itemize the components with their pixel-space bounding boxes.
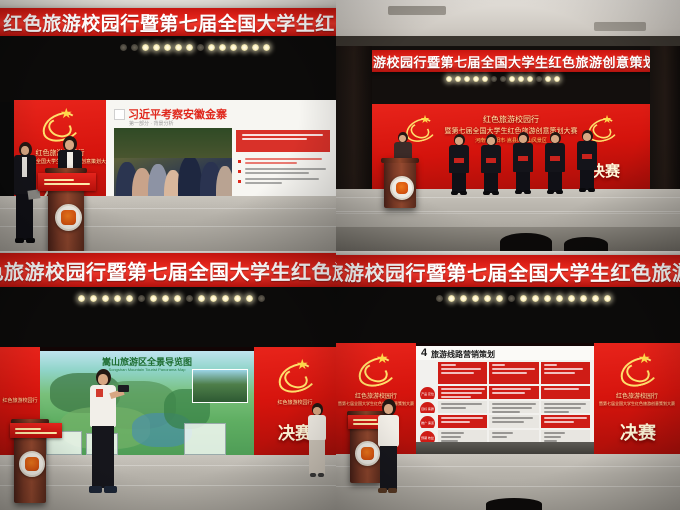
slide-bullet-list: 金寨是中国革命的重要策源地，人民军队的重要发源地 一寸山河一寸血，一腔热血铸丰碑… — [238, 156, 330, 188]
person-host — [12, 142, 38, 251]
led-backdrop-line2: 暨第七届全国大学生红色旅游创意策划大赛 — [372, 126, 650, 136]
stage-light-bar — [120, 44, 270, 51]
matrix-column-header: 方案一 红色研学线路 — [438, 362, 487, 384]
slide-bullet-item: 让老区人民同全国人民一道迈入全面小康社会 — [238, 178, 330, 184]
photo-collage: 选手在讲台演讲，大屏展示演示文稿 红色旅游校园行暨第七届全国大学生红 — [0, 0, 680, 510]
stage-light-bar — [446, 76, 560, 82]
person-contestant — [512, 132, 534, 196]
matrix-column-header: 方案三 亲子体验线路 — [541, 362, 590, 384]
person-contestant — [576, 130, 598, 194]
stage-lamp — [153, 44, 160, 51]
person-host — [306, 403, 328, 495]
stage-curtain-right — [650, 46, 680, 191]
event-banner: 红色旅游校园行暨第七届全国大学生红色旅游创意策划大赛 — [344, 50, 672, 72]
stage-lamp — [186, 44, 193, 51]
person-contestant — [448, 134, 470, 196]
audience-silhouette — [486, 498, 542, 510]
matrix-cell: 城市白领、自驾游客 — [489, 401, 538, 414]
stage-lamp — [142, 44, 149, 51]
podium-sign: 红色旅游校园行 暨第七届全国大学生红色旅游创意策划大赛 — [38, 173, 96, 191]
stage-lamp — [208, 44, 215, 51]
map-legend — [184, 423, 226, 455]
stage-lamp — [197, 44, 204, 51]
slide-bullet-square-icon — [114, 109, 125, 120]
photo-panel-bottom-left: 男选手手持平板讲解景区全景导览图 红色旅游校园行暨第七届全国大学生红色旅游 红色… — [0, 251, 336, 510]
slide-section-number: 4 — [421, 347, 427, 359]
ceiling-vent — [594, 22, 646, 31]
competition-logo-icon: ★ — [356, 351, 396, 385]
matrix-row-label: 预期 效益 — [420, 430, 436, 443]
matrix-corner — [420, 362, 436, 384]
ceiling-vent — [388, 6, 446, 15]
matrix-cell: 亲子家庭、青少年团体 — [541, 401, 590, 414]
led-side-panel-right: ★ 红色旅游校园行 暨第七届全国大学生红色旅游创意策划大赛 决赛 — [594, 343, 680, 459]
stage-lamp — [230, 44, 237, 51]
podium-sign: 红色旅游校园行 暨第七届全国大学生红色旅游创意策划大赛 — [10, 423, 62, 438]
podium-emblem-icon — [390, 176, 414, 200]
led-wall: 红色旅游校园行 ★ 红色旅游校园行 决赛 嵩山旅游区全景导览图 Songshan… — [0, 347, 336, 463]
event-banner: 色旅游校园行暨第七届全国大学生红色旅游创 — [336, 255, 680, 287]
led-side-line1: 红色旅游校园行 — [0, 397, 40, 404]
audience-silhouette — [500, 233, 552, 251]
matrix-row-label: 目标 客群 — [420, 401, 436, 414]
matrix-cell: 年接待量 6 万人次 — [489, 430, 538, 443]
matrix-cell: 面向亲子家庭的互动体验线路 — [541, 386, 590, 399]
photo-panel-top-left: 选手在讲台演讲，大屏展示演示文稿 红色旅游校园行暨第七届全国大学生红 — [0, 0, 336, 251]
podium-emblem-icon — [19, 451, 45, 477]
matrix-cell: 校园宣讲、新媒体矩阵、旅行社渠道 — [438, 415, 487, 428]
matrix-column-header: 方案二 生态休闲线路 — [489, 362, 538, 384]
person-contestant — [544, 132, 566, 196]
matrix-cell: 在校学生、研学团队、党政机关 — [438, 401, 487, 414]
stage-lamp — [219, 44, 226, 51]
person-contestant — [480, 134, 502, 196]
matrix-cell: 年接待量 10 万人次 — [438, 430, 487, 443]
led-side-line2: 暨第七届全国大学生红色旅游创意策划大赛 — [596, 401, 678, 407]
stage-lamp — [263, 44, 270, 51]
competition-logo-icon: ★ — [40, 106, 80, 140]
led-side-final: 决赛 — [620, 419, 656, 445]
person-presenter — [376, 399, 402, 499]
map-slide: 嵩山旅游区全景导览图 Songshan Mountain Tourist Pan… — [40, 351, 254, 459]
slide-bullet-item: 金寨是中国革命的重要策源地，人民军队的重要发源地 — [238, 158, 330, 164]
matrix-row-label: 推广 渠道 — [420, 415, 436, 428]
podium: 红色旅游校园行 暨第七届全国大学生红色旅游创意策划大赛 — [48, 168, 84, 251]
stage-light-bar — [436, 295, 611, 302]
strategy-matrix: 方案一 红色研学线路 方案二 生态休闲线路 方案三 亲子体验线路 产品 定位 — [420, 362, 590, 442]
podium-emblem-icon — [55, 204, 82, 231]
led-backdrop-line1: 红色旅游校园行 — [372, 114, 650, 125]
map-inset-photo: 主峰远景 — [192, 369, 248, 403]
matrix-cell: 年接待量 8 万人次 — [541, 430, 590, 443]
stage-lamp — [175, 44, 182, 51]
matrix-cell: 面向中青年白领的周末短途线路 — [489, 386, 538, 399]
stage-lamp — [164, 44, 171, 51]
led-side-line1: 红色旅游校园行 — [594, 391, 680, 400]
audience-silhouette — [564, 237, 608, 251]
stage-floor — [0, 455, 336, 510]
stage-lamp — [252, 44, 259, 51]
slide-bullet-item: 一寸山河一寸血，一腔热血铸丰碑，红色基因代代相传 — [238, 168, 330, 174]
competition-logo-icon: ★ — [618, 351, 658, 385]
stage-lamp — [131, 44, 138, 51]
matrix-cell: 面向大中小学生的红色研学旅行产品 — [438, 386, 487, 399]
ceiling — [336, 0, 680, 46]
stage-light-bar — [78, 295, 265, 302]
matrix-cell: 亲子社群、学校推荐 — [541, 415, 590, 428]
photo-panel-top-right: 五名选手与主持人在舞台上列队 红色旅游校园行暨第七届全国大学生红色旅游创意策划大… — [336, 0, 680, 251]
podium — [384, 158, 416, 208]
slide-photo-caption: 2016年4月24日，习近平来到安徽省六安市金寨县考察，了解当地红色旅游发展情况… — [236, 130, 330, 152]
stage-curtain-left — [336, 46, 372, 191]
slide-subtitle: 第一部分 · 背景分析 — [129, 120, 173, 127]
stage-lamp — [241, 44, 248, 51]
competition-logo-icon: ★ — [276, 357, 316, 391]
podium: 红色旅游校园行 暨第七届全国大学生红色旅游创意策划大赛 — [14, 419, 46, 503]
event-banner: 红色旅游校园行暨第七届全国大学生红 — [0, 8, 336, 36]
presenter-shirt — [378, 415, 399, 447]
matrix-row-label: 产品 定位 — [420, 386, 436, 399]
person-presenter — [86, 369, 120, 499]
photo-panel-bottom-right: 女选手在讲台旁，大屏展示营销策划矩阵图 色旅游校园行暨第七届全国大学生红色旅游创… — [336, 251, 680, 510]
stage-lamp — [120, 44, 127, 51]
matrix-cell: 短视频平台、社群营销 — [489, 415, 538, 428]
led-backdrop-line3: 河南省洛阳市·嵩县白云山风景区 — [372, 137, 650, 144]
event-banner: 红色旅游校园行暨第七届全国大学生红色旅游 — [0, 253, 336, 287]
slide-section-title: 旅游线路营销策划 — [431, 349, 495, 360]
matrix-slide: 4 旅游线路营销策划 方案一 红色研学线路 方案二 生态休闲线路 — [416, 346, 594, 456]
tablet-device — [118, 385, 129, 392]
